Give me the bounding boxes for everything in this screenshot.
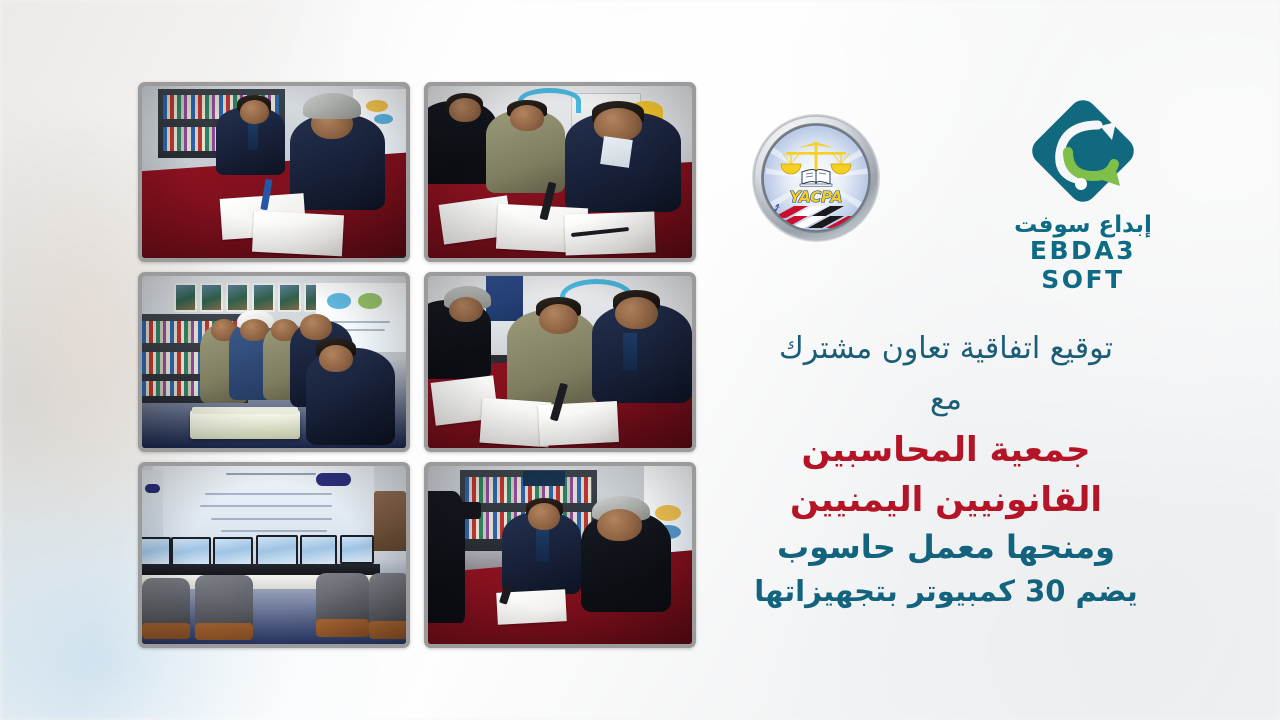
headline-block: توقيع اتفاقية تعاون مشترك مع جمعية المحا… — [726, 328, 1166, 610]
shelf-sign — [523, 471, 565, 485]
picture-frame — [252, 283, 275, 312]
banner-logo-2 — [358, 293, 382, 308]
wall-picture-frames — [174, 283, 327, 312]
chair-1-seat — [142, 623, 190, 639]
photo-scene — [428, 466, 692, 644]
yacpa-acronym: YACPA — [790, 188, 843, 206]
headline-line-1: توقيع اتفاقية تعاون مشترك — [726, 328, 1166, 371]
person-left-head — [449, 98, 481, 122]
person-right-head — [597, 509, 642, 541]
banner-badge-1 — [316, 473, 350, 485]
document-2 — [252, 211, 344, 257]
person-left-tie — [536, 530, 549, 562]
chair-3-seat — [316, 619, 369, 637]
banner-logo-1 — [327, 293, 351, 308]
photo-signing-3[interactable] — [424, 272, 696, 452]
photo-grid — [138, 82, 696, 646]
photo-scene — [142, 466, 406, 644]
monitor-1 — [142, 537, 171, 565]
person-right-tie — [623, 333, 636, 371]
standing-person-dark — [486, 276, 523, 321]
photo-signing-2[interactable] — [138, 82, 410, 262]
ebda3-english-name: EBDA3 SOFT — [988, 237, 1178, 295]
person-right-shirt — [600, 136, 633, 167]
photo-cake-cutting[interactable] — [138, 272, 410, 452]
poster-accent-2 — [374, 114, 392, 124]
photo-scene — [142, 276, 406, 448]
yacpa-logo-svg: جمعية المحاسبين القانونيين اليمنيين — [750, 112, 882, 244]
person-right-head — [594, 108, 642, 141]
photo-scene — [428, 276, 692, 448]
banner-text-line — [205, 493, 332, 495]
document-3 — [538, 401, 619, 446]
person-center-head — [539, 304, 579, 335]
person-4-head — [300, 314, 332, 340]
person-left-head — [449, 297, 483, 323]
picture-frame — [174, 283, 197, 312]
headline-line-3: جمعية المحاسبين — [726, 428, 1166, 472]
monitor-3 — [213, 537, 253, 567]
photo-scene — [142, 86, 406, 258]
monitor-5 — [300, 535, 337, 565]
person-center-head — [510, 105, 544, 131]
headline-line-2: مع — [726, 377, 1166, 422]
chair-4-seat — [369, 621, 406, 639]
ebda3-mark-svg — [1024, 92, 1142, 210]
photo-signing-1[interactable] — [424, 82, 696, 262]
picture-frame — [226, 283, 249, 312]
ebda3-soft-logo[interactable]: إبداع سوفت EBDA3 SOFT — [988, 92, 1178, 272]
photo-scene — [428, 86, 692, 258]
headline-line-4: القانونيين اليمنيين — [726, 478, 1166, 522]
picture-frame — [278, 283, 301, 312]
headline-line-5: ومنحها معمل حاسوب — [726, 526, 1166, 568]
person-left-head — [240, 100, 269, 124]
photo-signing-4[interactable] — [424, 462, 696, 648]
grey-cap — [303, 93, 361, 119]
headline-line-6: يضم 30 كمبيوتر بتجهيزاتها — [726, 572, 1166, 610]
person-left-tie — [248, 124, 259, 150]
banner-text-line — [200, 505, 332, 507]
chair-2-seat — [195, 623, 253, 641]
banner-title-line — [226, 473, 316, 475]
monitor-4 — [256, 535, 298, 567]
banner-text-line — [221, 530, 327, 532]
yacpa-logo[interactable]: جمعية المحاسبين القانونيين اليمنيين — [750, 112, 882, 244]
camera — [444, 502, 481, 520]
monitor-2 — [171, 537, 211, 567]
banner-text-line — [211, 518, 332, 520]
person-left-head — [528, 503, 560, 530]
ebda3-mark-icon — [1024, 92, 1142, 210]
cabinet — [374, 491, 406, 552]
picture-frame — [200, 283, 223, 312]
ceremonial-cake — [190, 410, 301, 439]
banner-badge-2 — [145, 484, 161, 493]
poster-accent-1 — [366, 100, 387, 112]
person-5-head — [319, 345, 353, 373]
cake-top — [192, 407, 298, 414]
ebda3-arabic-name: إبداع سوفت — [988, 214, 1178, 237]
photo-computer-lab[interactable] — [138, 462, 410, 648]
person-right-head — [615, 297, 657, 330]
logo-row: جمعية المحاسبين القانونيين اليمنيين — [740, 92, 1180, 272]
poster-canvas: جمعية المحاسبين القانونيين اليمنيين — [0, 0, 1280, 720]
monitor-6 — [340, 535, 374, 563]
banner-side-strip — [142, 470, 163, 538]
